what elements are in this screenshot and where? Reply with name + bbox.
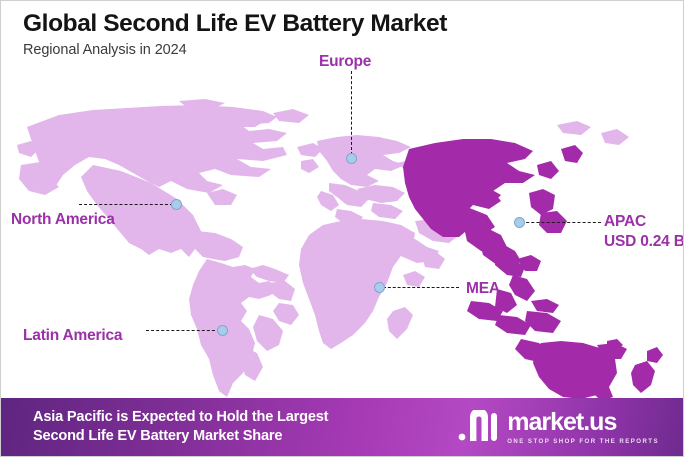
infographic-root: Global Second Life EV Battery Market Reg… bbox=[0, 0, 684, 457]
map-marker-latin-america[interactable] bbox=[217, 325, 228, 336]
leader-line-latin-america bbox=[146, 330, 220, 331]
logo-tagline: ONE STOP SHOP FOR THE REPORTS bbox=[507, 438, 659, 445]
leader-line-apac bbox=[521, 222, 601, 223]
logo-text-block: market.us ONE STOP SHOP FOR THE REPORTS bbox=[507, 410, 659, 445]
region-label-apac: APAC USD 0.24 Bn bbox=[604, 213, 684, 251]
page-subtitle: Regional Analysis in 2024 bbox=[23, 42, 447, 58]
map-region-north-america[interactable] bbox=[19, 99, 287, 261]
banner-text-line2: Second Life EV Battery Market Share bbox=[33, 427, 328, 446]
market-us-logo[interactable]: market.us ONE STOP SHOP FOR THE REPORTS bbox=[458, 410, 659, 445]
region-label-north-america: North America bbox=[11, 211, 115, 228]
header: Global Second Life EV Battery Market Reg… bbox=[23, 11, 447, 58]
region-label-latin-america: Latin America bbox=[23, 327, 122, 344]
page-title: Global Second Life EV Battery Market bbox=[23, 11, 447, 37]
leader-line-europe bbox=[351, 71, 352, 155]
logo-wordmark: market.us bbox=[507, 410, 659, 435]
region-label-apac-name: APAC bbox=[604, 213, 646, 230]
banner-text: Asia Pacific is Expected to Hold the Lar… bbox=[33, 408, 328, 447]
map-marker-mea[interactable] bbox=[374, 282, 385, 293]
banner-text-line1: Asia Pacific is Expected to Hold the Lar… bbox=[33, 408, 328, 427]
logo-mark-icon bbox=[458, 410, 500, 444]
region-label-mea: MEA bbox=[466, 280, 500, 297]
leader-line-mea bbox=[383, 287, 459, 288]
footer-banner: Asia Pacific is Expected to Hold the Lar… bbox=[1, 398, 684, 456]
map-marker-north-america[interactable] bbox=[171, 199, 182, 210]
map-marker-europe[interactable] bbox=[346, 153, 357, 164]
region-value-apac: USD 0.24 Bn bbox=[604, 233, 684, 250]
map-region-latin-america[interactable] bbox=[189, 259, 299, 397]
map-region-apac[interactable] bbox=[403, 139, 663, 398]
map-marker-apac[interactable] bbox=[514, 217, 525, 228]
leader-line-north-america bbox=[79, 204, 173, 205]
